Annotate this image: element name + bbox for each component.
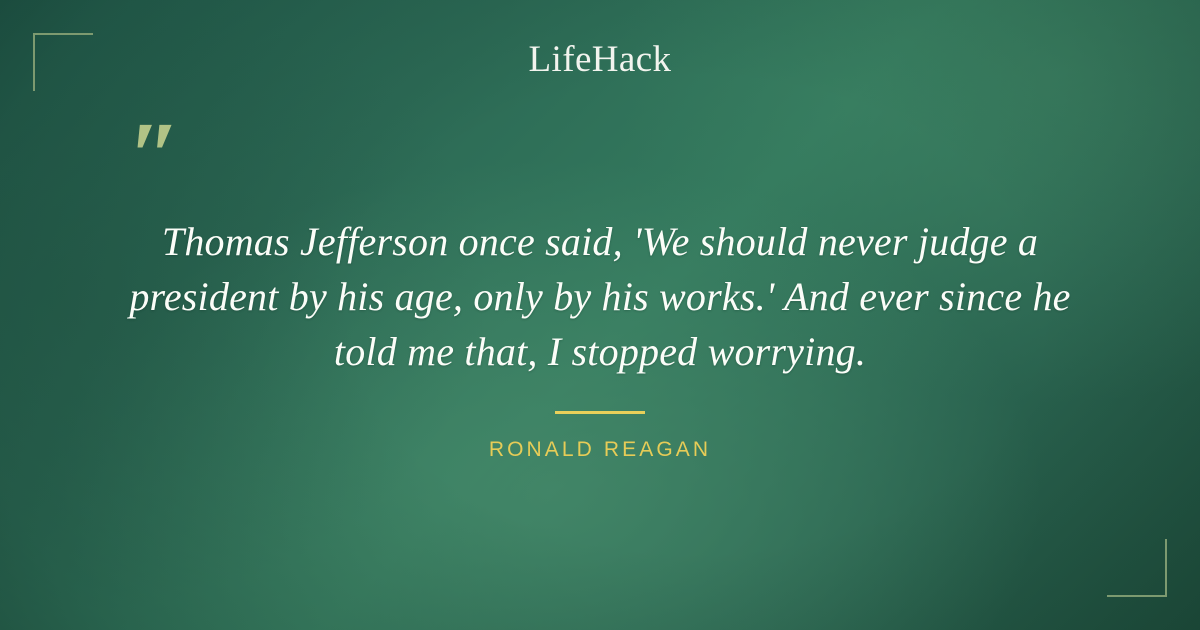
quote-line: president by his age, only by his works.… [90,269,1110,324]
brand-logo: LifeHack [0,38,1200,82]
quotation-mark-icon: ″ [128,108,181,204]
quote-line: Thomas Jefferson once said, 'We should n… [90,214,1110,269]
quote-line: told me that, I stopped worrying. [90,324,1110,379]
corner-bracket-bottom-right-icon [1107,539,1167,597]
quote-author: RONALD REAGAN [0,438,1200,462]
quote-card: LifeHack ″ Thomas Jefferson once said, '… [0,0,1200,630]
divider-rule [555,411,645,414]
quote-block: Thomas Jefferson once said, 'We should n… [90,214,1110,379]
divider [0,411,1200,414]
